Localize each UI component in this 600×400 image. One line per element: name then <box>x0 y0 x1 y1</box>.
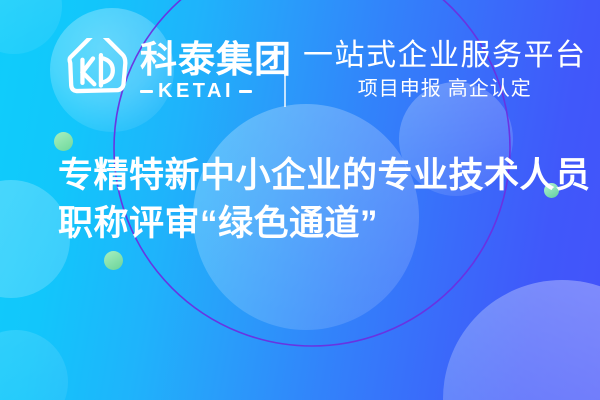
decorative-dot-green-left-upper <box>54 132 73 151</box>
tagline-block: 一站式企业服务平台 项目申报 高企认定 <box>303 38 587 102</box>
logo-company-latin: KETAI <box>158 81 234 102</box>
logo-tagline-divider <box>284 55 286 107</box>
logo-dash-left <box>140 90 153 93</box>
headline-line-1: 专精特新中小企业的专业技术人员 <box>58 152 578 200</box>
tagline-main: 一站式企业服务平台 <box>303 38 587 74</box>
logo-latin-row: KETAI <box>140 81 292 102</box>
headline: 专精特新中小企业的专业技术人员 职称评审“绿色通道” <box>58 152 578 248</box>
logo-wordmark: 科泰集团 KETAI <box>140 40 292 102</box>
headline-line-2: 职称评审“绿色通道” <box>58 200 578 248</box>
logo-company-cn: 科泰集团 <box>140 40 292 80</box>
ketai-kd-diamond-logo-icon <box>62 38 128 104</box>
promo-banner: 科泰集团 KETAI 一站式企业服务平台 项目申报 高企认定 专精特新中小企业的… <box>0 0 600 400</box>
tagline-sub: 项目申报 高企认定 <box>303 76 587 102</box>
brand-logo: 科泰集团 KETAI <box>62 38 292 104</box>
decorative-dot-green-left-lower <box>104 251 123 270</box>
logo-dash-right <box>239 90 252 93</box>
